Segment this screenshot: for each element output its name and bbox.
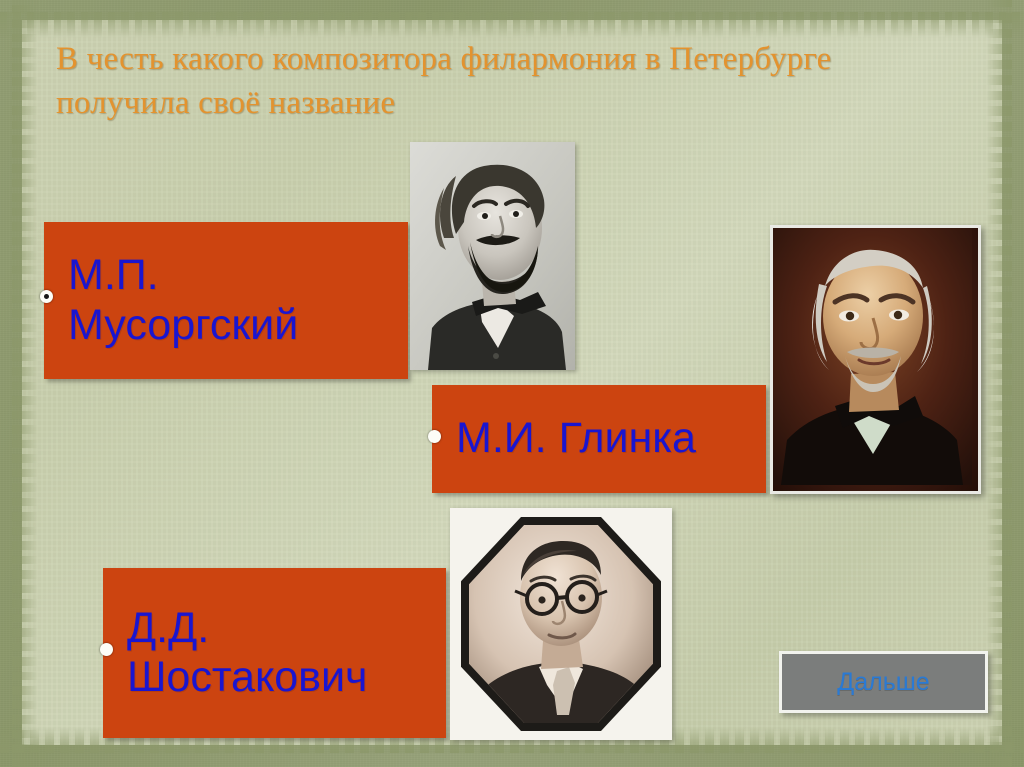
slide-title: В честь какого композитора филармония в … bbox=[56, 38, 836, 126]
next-button-label: Дальше bbox=[837, 668, 929, 697]
answer-option-musorgsky-label: М.П. Мусоргский bbox=[44, 251, 408, 349]
answer-option-glinka[interactable]: М.И. Глинка bbox=[432, 385, 766, 493]
portrait-shostakovich-figure bbox=[469, 525, 653, 723]
answer-bullet-glinka[interactable] bbox=[428, 430, 441, 443]
portrait-glinka-figure bbox=[773, 228, 972, 485]
next-button[interactable]: Дальше bbox=[779, 651, 988, 713]
portrait-mussorgsky-figure bbox=[410, 142, 575, 370]
answer-option-glinka-label: М.И. Глинка bbox=[432, 414, 706, 463]
answer-option-shostakovich-label: Д.Д. Шостакович bbox=[103, 604, 446, 702]
portrait-shostakovich bbox=[450, 508, 672, 740]
portrait-glinka bbox=[770, 225, 981, 494]
answer-option-musorgsky[interactable]: М.П. Мусоргский bbox=[44, 222, 408, 379]
portrait-shostakovich-image bbox=[469, 525, 653, 723]
answer-bullet-musorgsky[interactable] bbox=[40, 290, 53, 303]
answer-option-shostakovich[interactable]: Д.Д. Шостакович bbox=[103, 568, 446, 738]
portrait-mussorgsky bbox=[410, 142, 575, 370]
quiz-slide: В честь какого композитора филармония в … bbox=[0, 0, 1024, 767]
answer-bullet-shostakovich[interactable] bbox=[100, 643, 113, 656]
